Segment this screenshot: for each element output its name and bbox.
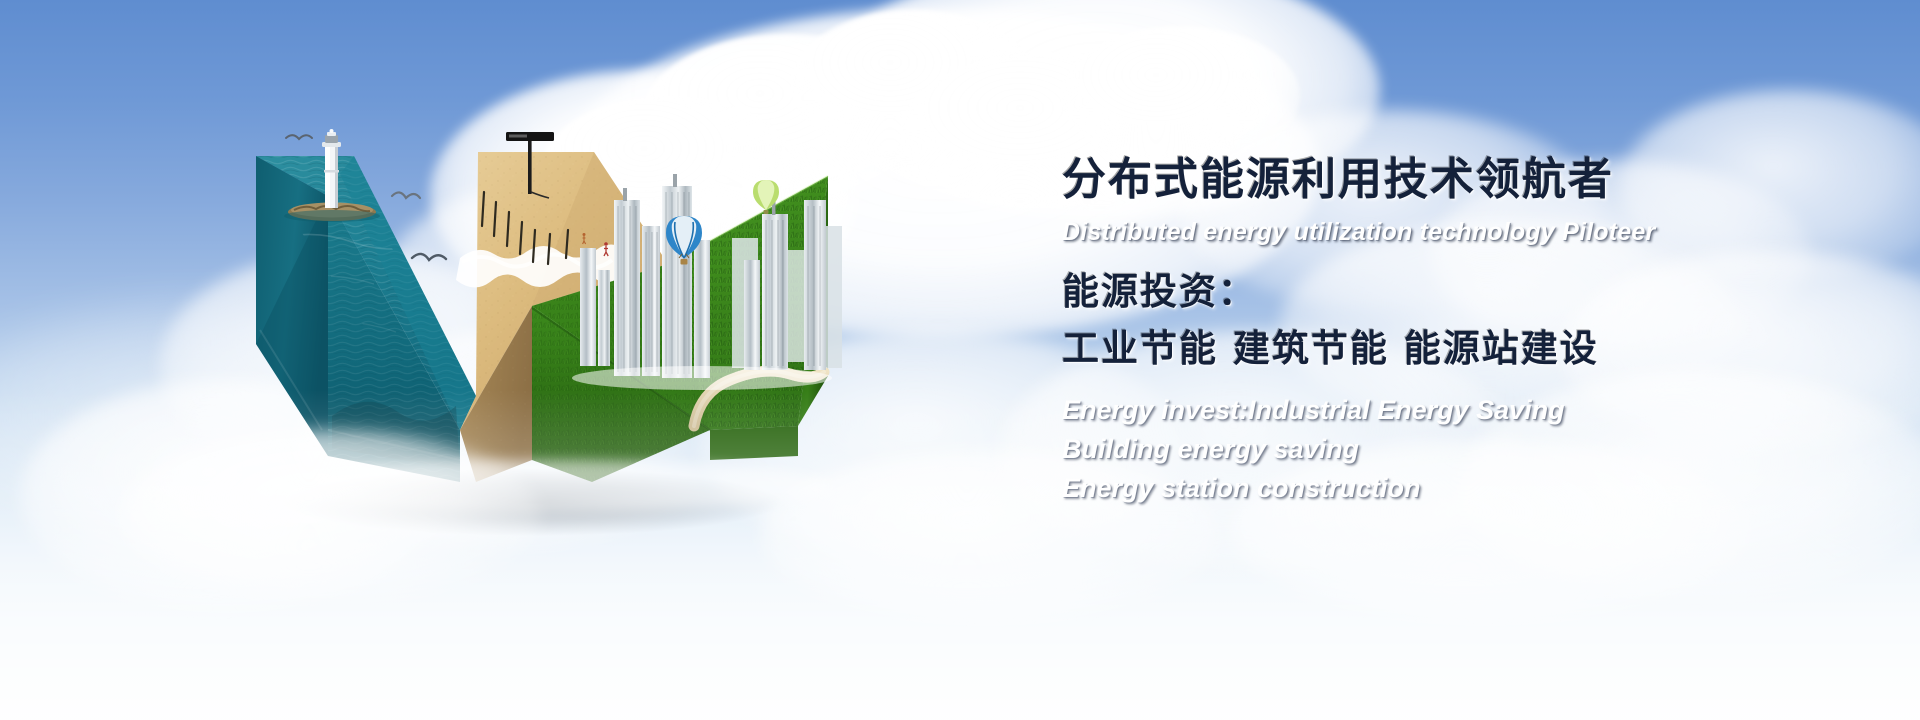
ocean-wedge xyxy=(256,156,476,482)
seagull-icon xyxy=(392,192,420,198)
headline-chinese: 分布式能源利用技术领航者 xyxy=(1062,158,1782,202)
seagull-icon xyxy=(412,254,446,260)
seagull-icon xyxy=(286,135,312,139)
headline-english: Distributed energy utilization technolog… xyxy=(1062,218,1782,247)
banner-copy: 分布式能源利用技术领航者 Distributed energy utilizat… xyxy=(1062,158,1782,508)
services-chinese: 工业节能 建筑节能 能源站建设 xyxy=(1062,330,1782,369)
hero-banner: 分布式能源利用技术领航者 Distributed energy utilizat… xyxy=(0,0,1920,720)
service-english-line-3: Energy station construction xyxy=(1062,469,1782,508)
w-letter-landscape-illustration xyxy=(232,130,852,530)
services-english-group: Energy invest:Industrial Energy Saving B… xyxy=(1062,391,1782,508)
section-label-chinese: 能源投资： xyxy=(1062,273,1782,312)
service-english-line-1: Energy invest:Industrial Energy Saving xyxy=(1062,391,1782,430)
service-english-line-2: Building energy saving xyxy=(1062,430,1782,469)
